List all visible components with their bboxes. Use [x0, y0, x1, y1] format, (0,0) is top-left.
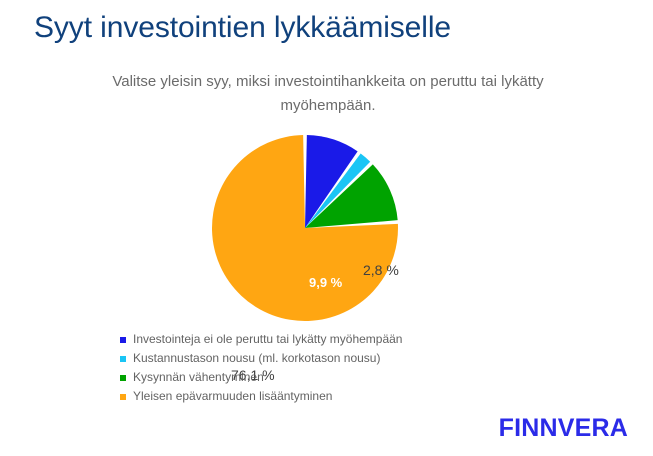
- legend-item-label: Investointeja ei ole peruttu tai lykätty…: [133, 332, 402, 347]
- legend-item-label: Kysynnän vähentyminen: [133, 370, 264, 385]
- chart-legend: Investointeja ei ole peruttu tai lykätty…: [120, 331, 540, 407]
- legend-swatch-icon: [120, 356, 126, 362]
- pie-label-investointeja-ei-ole-peruttu: 9,9 %: [309, 275, 342, 290]
- pie-chart-svg: [0, 120, 653, 340]
- legend-swatch-icon: [120, 375, 126, 381]
- legend-item[interactable]: Kustannustason nousu (ml. korkotason nou…: [120, 350, 540, 367]
- chart-subtitle: Valitse yleisin syy, miksi investointiha…: [78, 70, 578, 118]
- legend-item[interactable]: Yleisen epävarmuuden lisääntyminen: [120, 388, 540, 405]
- pie-label-kustannustason-nousu: 2,8 %: [363, 262, 399, 278]
- page-title: Syyt investointien lykkäämiselle: [34, 9, 624, 47]
- legend-item-label: Kustannustason nousu (ml. korkotason nou…: [133, 351, 380, 366]
- legend-swatch-icon: [120, 337, 126, 343]
- legend-swatch-icon: [120, 394, 126, 400]
- legend-item[interactable]: Investointeja ei ole peruttu tai lykätty…: [120, 331, 540, 348]
- legend-item[interactable]: Kysynnän vähentyminen: [120, 369, 540, 386]
- pie-slice: [212, 135, 398, 321]
- pie-slice-group: [212, 135, 398, 321]
- legend-item-label: Yleisen epävarmuuden lisääntyminen: [133, 389, 332, 404]
- finnvera-logo: FINNVERA: [499, 414, 628, 443]
- pie-chart: 9,9 % 2,8 % 11,3 % 76,1 %: [0, 120, 653, 340]
